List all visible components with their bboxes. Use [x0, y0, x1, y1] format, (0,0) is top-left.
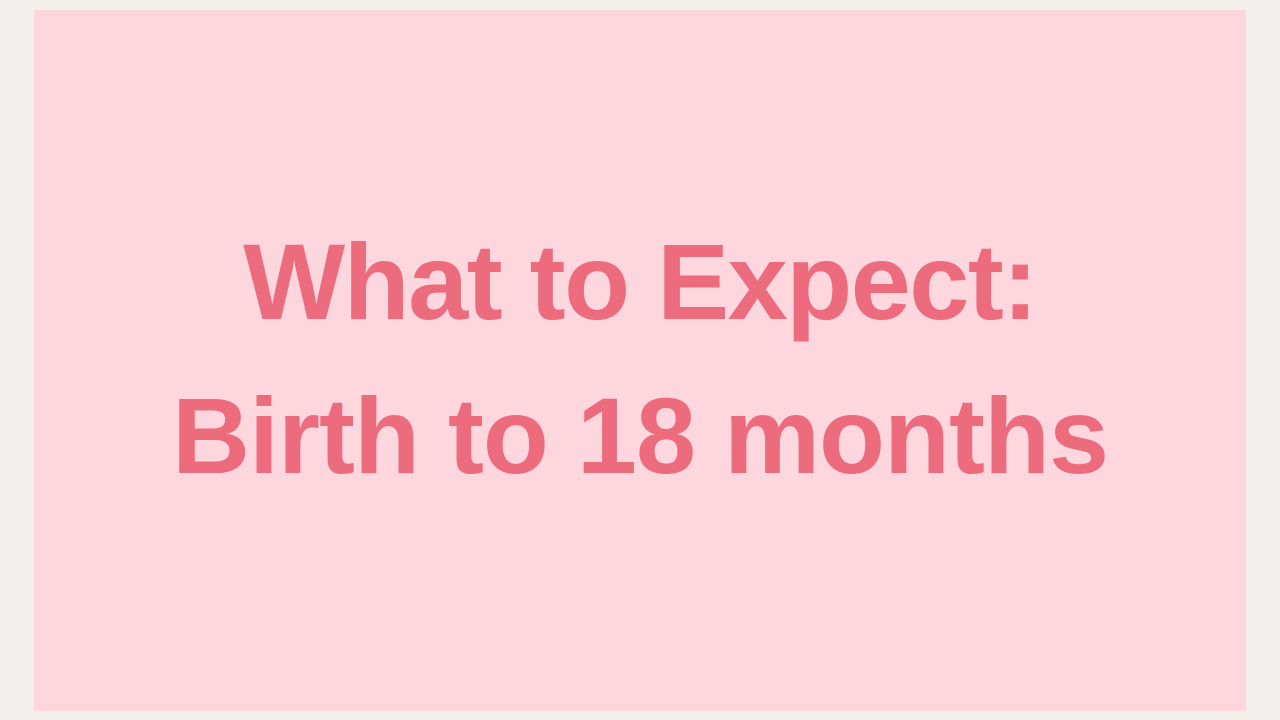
slide-title-line-2: Birth to 18 months [74, 359, 1206, 513]
slide-root: What to Expect: Birth to 18 months [0, 0, 1280, 720]
slide-content-panel: What to Expect: Birth to 18 months [34, 10, 1246, 711]
slide-title-line-1: What to Expect: [74, 205, 1206, 359]
slide-title: What to Expect: Birth to 18 months [34, 205, 1246, 513]
